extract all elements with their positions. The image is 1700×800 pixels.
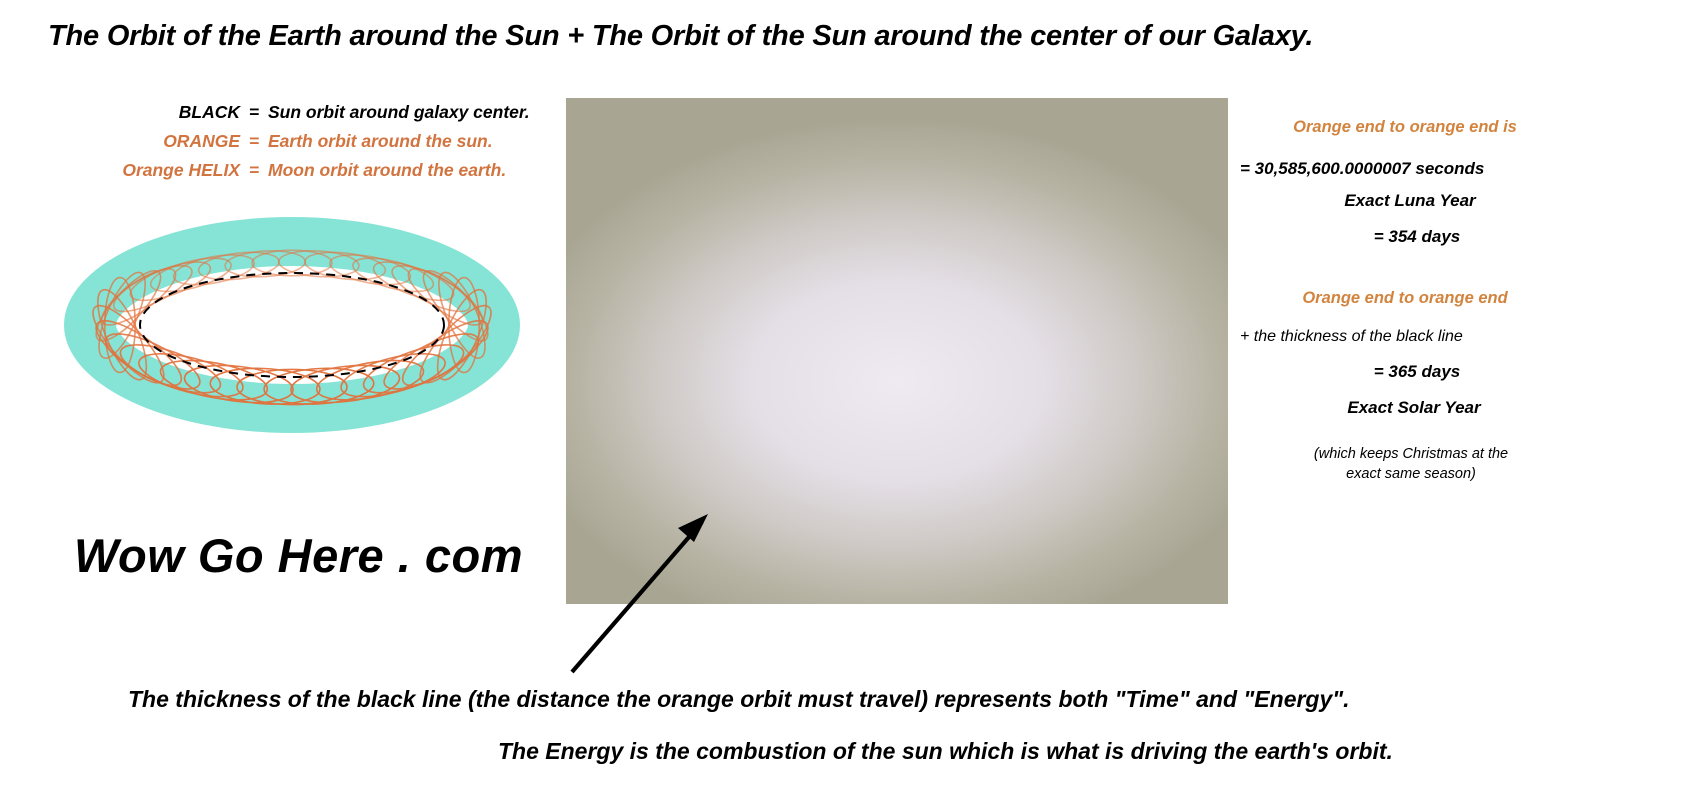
luna-heading: Orange end to orange end is xyxy=(1240,118,1570,137)
note-spacer xyxy=(1240,418,1570,444)
legend-key-orange-helix: Orange HELIX xyxy=(60,156,240,185)
torus-schematic-svg xyxy=(52,210,532,440)
caption-line-2: The Energy is the combustion of the sun … xyxy=(498,738,1393,765)
luna-year-label: Exact Luna Year xyxy=(1240,191,1570,211)
page-title: The Orbit of the Earth around the Sun + … xyxy=(48,20,1648,53)
legend-key-black: BLACK xyxy=(60,98,240,127)
torus-coil-schematic xyxy=(52,210,532,440)
legend-row-orange: ORANGE = Earth orbit around the sun. xyxy=(60,127,540,156)
solar-heading: Orange end to orange end xyxy=(1240,289,1570,308)
legend-key-orange: ORANGE xyxy=(60,127,240,156)
poster-canvas: The Orbit of the Earth around the Sun + … xyxy=(0,0,1700,800)
legend-value-orange: Earth orbit around the sun. xyxy=(268,127,493,156)
legend-eq-orange: = xyxy=(240,127,268,156)
legend-value-black: Sun orbit around galaxy center. xyxy=(268,98,530,127)
solar-year-label: Exact Solar Year xyxy=(1240,398,1570,418)
right-section-luna: Orange end to orange end is = 30,585,600… xyxy=(1240,118,1570,247)
legend: BLACK = Sun orbit around galaxy center. … xyxy=(60,98,540,185)
caption-line-1: The thickness of the black line (the dis… xyxy=(128,686,1350,713)
legend-value-orange-helix: Moon orbit around the earth. xyxy=(268,156,506,185)
luna-seconds: = 30,585,600.0000007 seconds xyxy=(1240,159,1570,179)
legend-row-black: BLACK = Sun orbit around galaxy center. xyxy=(60,98,540,127)
christmas-note-line-2: exact same season) xyxy=(1240,464,1570,484)
legend-eq-black: = xyxy=(240,98,268,127)
section-spacer xyxy=(1240,247,1570,289)
arrow-head xyxy=(678,514,708,542)
legend-row-orange-helix: Orange HELIX = Moon orbit around the ear… xyxy=(60,156,540,185)
right-annotations: Orange end to orange end is = 30,585,600… xyxy=(1240,118,1570,484)
right-section-solar: Orange end to orange end + the thickness… xyxy=(1240,289,1570,484)
solar-days: = 365 days xyxy=(1240,362,1570,382)
christmas-note-line-1: (which keeps Christmas at the xyxy=(1240,444,1570,464)
brand-wordmark[interactable]: Wow Go Here . com xyxy=(74,528,523,583)
solar-plus-thickness: + the thickness of the black line xyxy=(1240,328,1570,346)
luna-days: = 354 days xyxy=(1240,227,1570,247)
pointer-arrow-to-coil xyxy=(560,500,740,690)
arrow-shaft xyxy=(572,522,702,672)
legend-eq-orange-helix: = xyxy=(240,156,268,185)
